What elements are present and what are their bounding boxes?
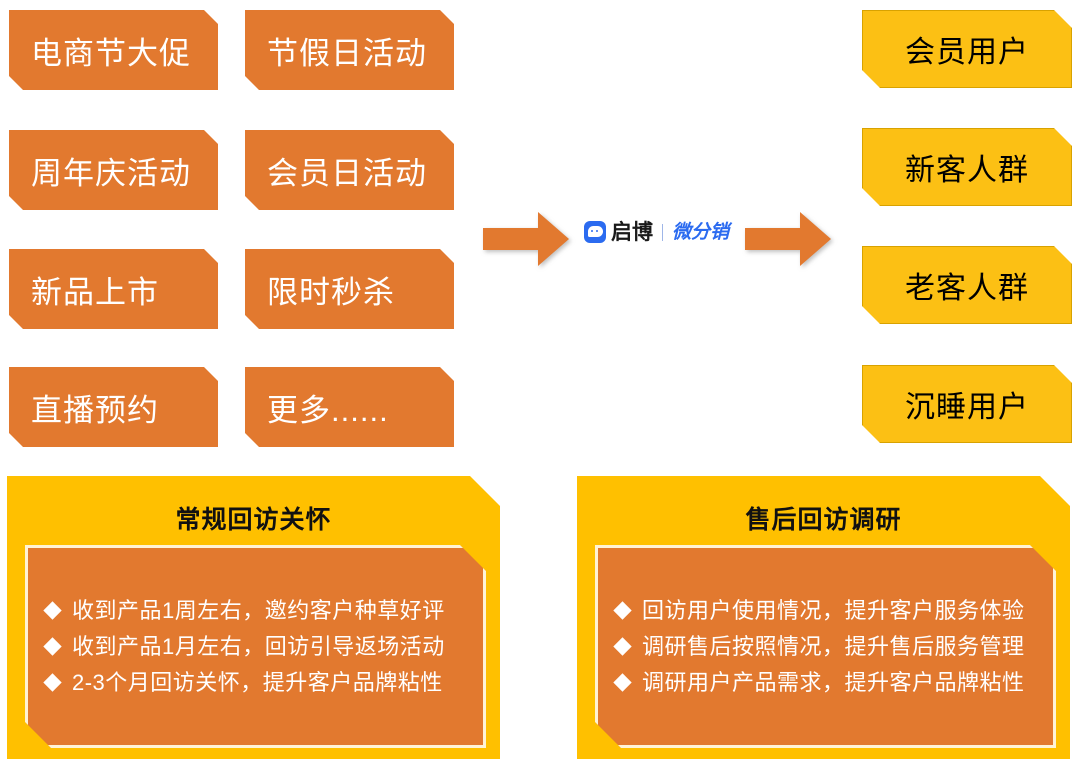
activity-tag[interactable]: 直播预约	[9, 367, 218, 447]
audience-tag-label: 新客人群	[905, 145, 1029, 189]
diamond-bullet-icon	[613, 637, 631, 655]
panel-bullet-text: 收到产品1月左右，回访引导返场活动	[72, 636, 445, 658]
activity-tag[interactable]: 限时秒杀	[245, 249, 454, 329]
panel-bullet-text: 调研用户产品需求，提升客户品牌粘性	[642, 672, 1025, 694]
panel-bullet-item: 2-3个月回访关怀，提升客户品牌粘性	[46, 665, 473, 701]
diamond-bullet-icon	[43, 673, 61, 691]
panel-bullet-list: 收到产品1周左右，邀约客户种草好评收到产品1月左右，回访引导返场活动2-3个月回…	[25, 545, 486, 748]
panel-bullet-item: 回访用户使用情况，提升客户服务体验	[616, 593, 1043, 629]
brand-logo: 启博 微分销	[584, 221, 729, 243]
panel-bullet-item: 调研售后按照情况，提升售后服务管理	[616, 629, 1043, 665]
brand-product-name: 微分销	[672, 223, 729, 242]
panel-bullet-text: 调研售后按照情况，提升售后服务管理	[642, 636, 1025, 658]
brand-name: 启博	[611, 222, 653, 243]
panel-bullet-list: 回访用户使用情况，提升客户服务体验调研售后按照情况，提升售后服务管理调研用户产品…	[595, 545, 1056, 748]
activity-tag-label: 会员日活动	[267, 148, 427, 193]
activity-tag[interactable]: 电商节大促	[9, 10, 218, 90]
activity-tag[interactable]: 更多......	[245, 367, 454, 447]
activity-tag-label: 电商节大促	[31, 28, 191, 73]
activity-tag-label: 更多......	[267, 385, 389, 430]
arrow-right-left-icon	[483, 212, 569, 266]
panel-bullet-text: 回访用户使用情况，提升客户服务体验	[642, 600, 1025, 622]
diamond-bullet-icon	[613, 673, 631, 691]
audience-tag-label: 老客人群	[905, 263, 1029, 307]
activity-tag-label: 直播预约	[31, 385, 159, 430]
panel-bullet-text: 收到产品1周左右，邀约客户种草好评	[72, 600, 445, 622]
followup-panel: 常规回访关怀收到产品1周左右，邀约客户种草好评收到产品1月左右，回访引导返场活动…	[7, 476, 500, 759]
panel-bullet-text: 2-3个月回访关怀，提升客户品牌粘性	[72, 672, 443, 694]
audience-tag-label: 会员用户	[905, 27, 1029, 71]
panel-title: 常规回访关怀	[7, 500, 500, 536]
audience-tag-label: 沉睡用户	[905, 382, 1029, 426]
arrow-right-right-icon	[745, 212, 831, 266]
activity-tag-label: 限时秒杀	[267, 267, 395, 312]
audience-tag[interactable]: 新客人群	[862, 128, 1072, 206]
panel-title: 售后回访调研	[577, 500, 1070, 536]
activity-tag-label: 节假日活动	[267, 28, 427, 73]
activity-tag[interactable]: 周年庆活动	[9, 130, 218, 210]
brand-separator	[662, 224, 663, 241]
panel-bullet-item: 调研用户产品需求，提升客户品牌粘性	[616, 665, 1043, 701]
panel-bullet-item: 收到产品1月左右，回访引导返场活动	[46, 629, 473, 665]
audience-tag[interactable]: 会员用户	[862, 10, 1072, 88]
activity-tag-label: 新品上市	[31, 267, 159, 312]
diamond-bullet-icon	[43, 601, 61, 619]
audience-tag[interactable]: 老客人群	[862, 246, 1072, 324]
panel-bullet-item: 收到产品1周左右，邀约客户种草好评	[46, 593, 473, 629]
activity-tag[interactable]: 新品上市	[9, 249, 218, 329]
followup-panel: 售后回访调研回访用户使用情况，提升客户服务体验调研售后按照情况，提升售后服务管理…	[577, 476, 1070, 759]
diamond-bullet-icon	[613, 601, 631, 619]
diamond-bullet-icon	[43, 637, 61, 655]
activity-tag-label: 周年庆活动	[31, 148, 191, 193]
activity-tag[interactable]: 节假日活动	[245, 10, 454, 90]
chat-bubble-icon	[584, 221, 606, 243]
activity-tag[interactable]: 会员日活动	[245, 130, 454, 210]
audience-tag[interactable]: 沉睡用户	[862, 365, 1072, 443]
